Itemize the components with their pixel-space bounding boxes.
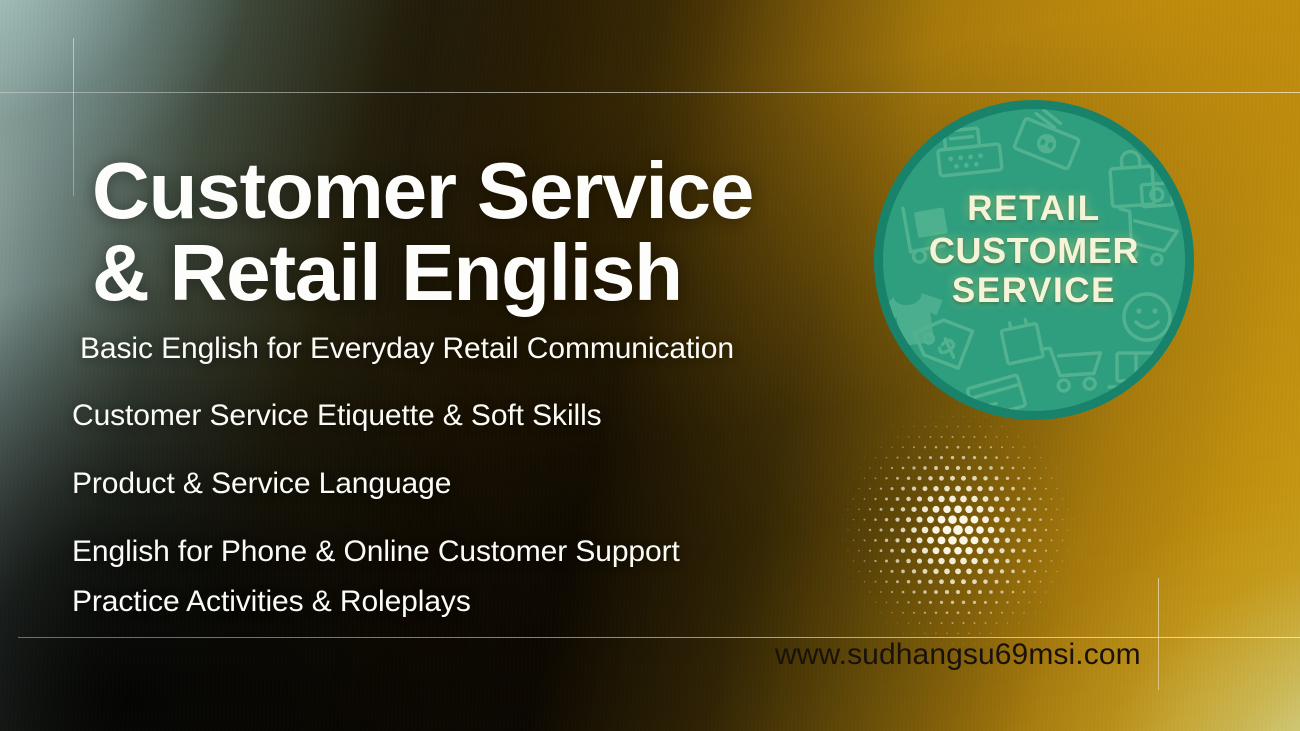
website-url[interactable]: www.sudhangsu69msi.com: [775, 638, 1141, 672]
list-item: Product & Service Language: [70, 469, 900, 499]
frame-rule-top: [0, 92, 1300, 93]
frame-rule-right: [1158, 578, 1159, 690]
badge-text-line-3: SERVICE: [871, 271, 1197, 312]
page-title-line-1: Customer Service: [92, 150, 872, 232]
badge-text-line-1: RETAIL: [871, 189, 1197, 230]
topic-list: Basic English for Everyday Retail Commun…: [70, 334, 900, 617]
badge-text: RETAIL CUSTOMER SERVICE: [871, 189, 1197, 312]
list-item: English for Phone & Online Customer Supp…: [70, 537, 900, 567]
list-item: Basic English for Everyday Retail Commun…: [70, 334, 900, 364]
list-item: Customer Service Etiquette & Soft Skills: [70, 401, 900, 431]
badge-text-line-2: CUSTOMER: [871, 230, 1197, 272]
retail-customer-service-badge: RETAIL CUSTOMER SERVICE: [871, 97, 1197, 423]
page-title-line-2: & Retail English: [92, 232, 872, 314]
promo-slide: Customer Service & Retail English Basic …: [0, 0, 1300, 731]
frame-rule-left: [73, 38, 74, 196]
page-title: Customer Service & Retail English: [92, 150, 872, 315]
list-item: Practice Activities & Roleplays: [70, 587, 900, 617]
